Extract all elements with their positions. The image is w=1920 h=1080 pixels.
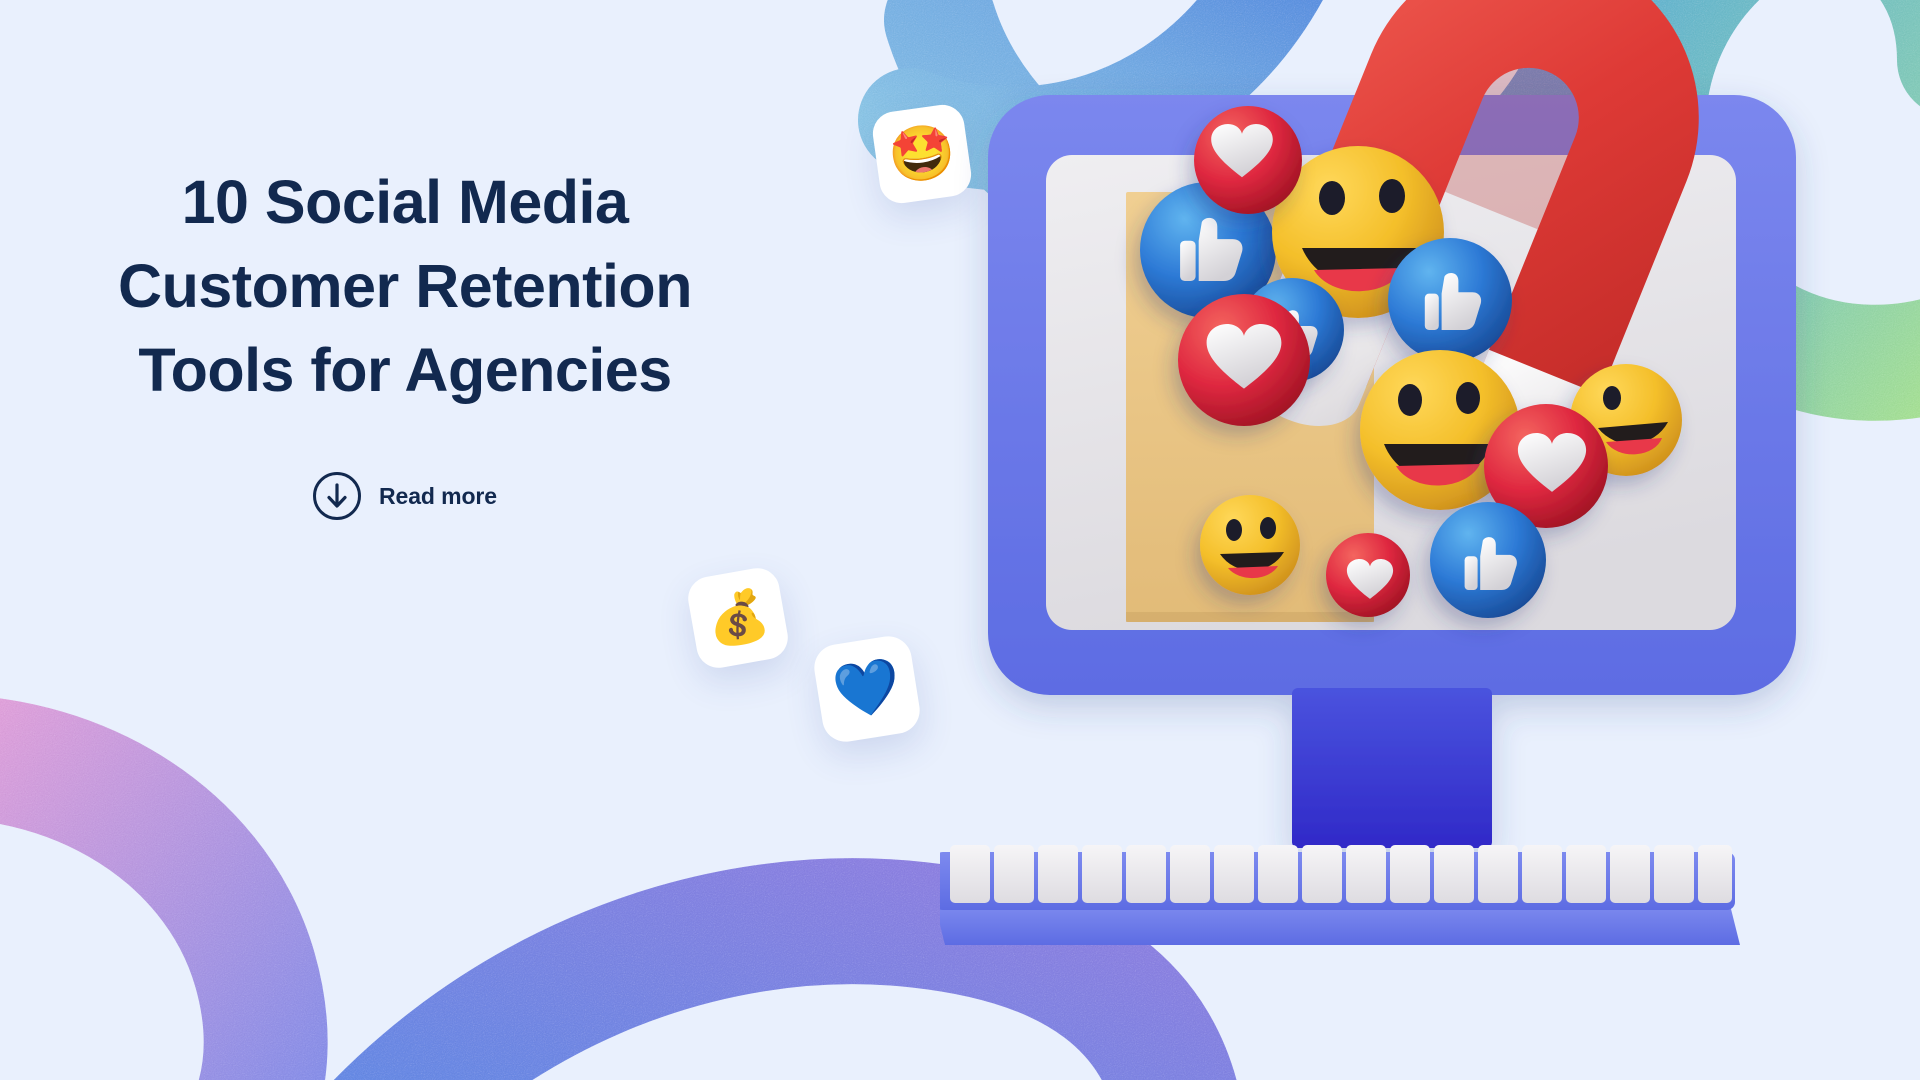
- blue-heart-icon: 💙: [830, 657, 905, 721]
- arrow-down-circle-icon[interactable]: [313, 472, 361, 520]
- emoji-card-money-bag: 💰: [685, 565, 792, 672]
- page-title: 10 Social Media Customer Retention Tools…: [0, 160, 810, 412]
- keyboard-keys: [950, 845, 1732, 903]
- hero-text-column: 10 Social Media Customer Retention Tools…: [0, 160, 810, 520]
- money-bag-icon: 💰: [703, 588, 773, 648]
- emoji-card-blue-heart: 💙: [811, 633, 923, 745]
- keyboard: [940, 845, 1740, 945]
- keyboard-base: [940, 905, 1740, 945]
- headline-line-1: 10 Social Media: [0, 160, 810, 244]
- headline-line-2: Customer Retention: [0, 244, 810, 328]
- monitor-stand: [1292, 688, 1492, 848]
- reaction-smiley-small: [1200, 495, 1300, 595]
- read-more-button[interactable]: Read more: [313, 472, 497, 520]
- read-more-label: Read more: [379, 483, 497, 510]
- hero-illustration: [940, 0, 1920, 1000]
- headline-line-3: Tools for Agencies: [0, 328, 810, 412]
